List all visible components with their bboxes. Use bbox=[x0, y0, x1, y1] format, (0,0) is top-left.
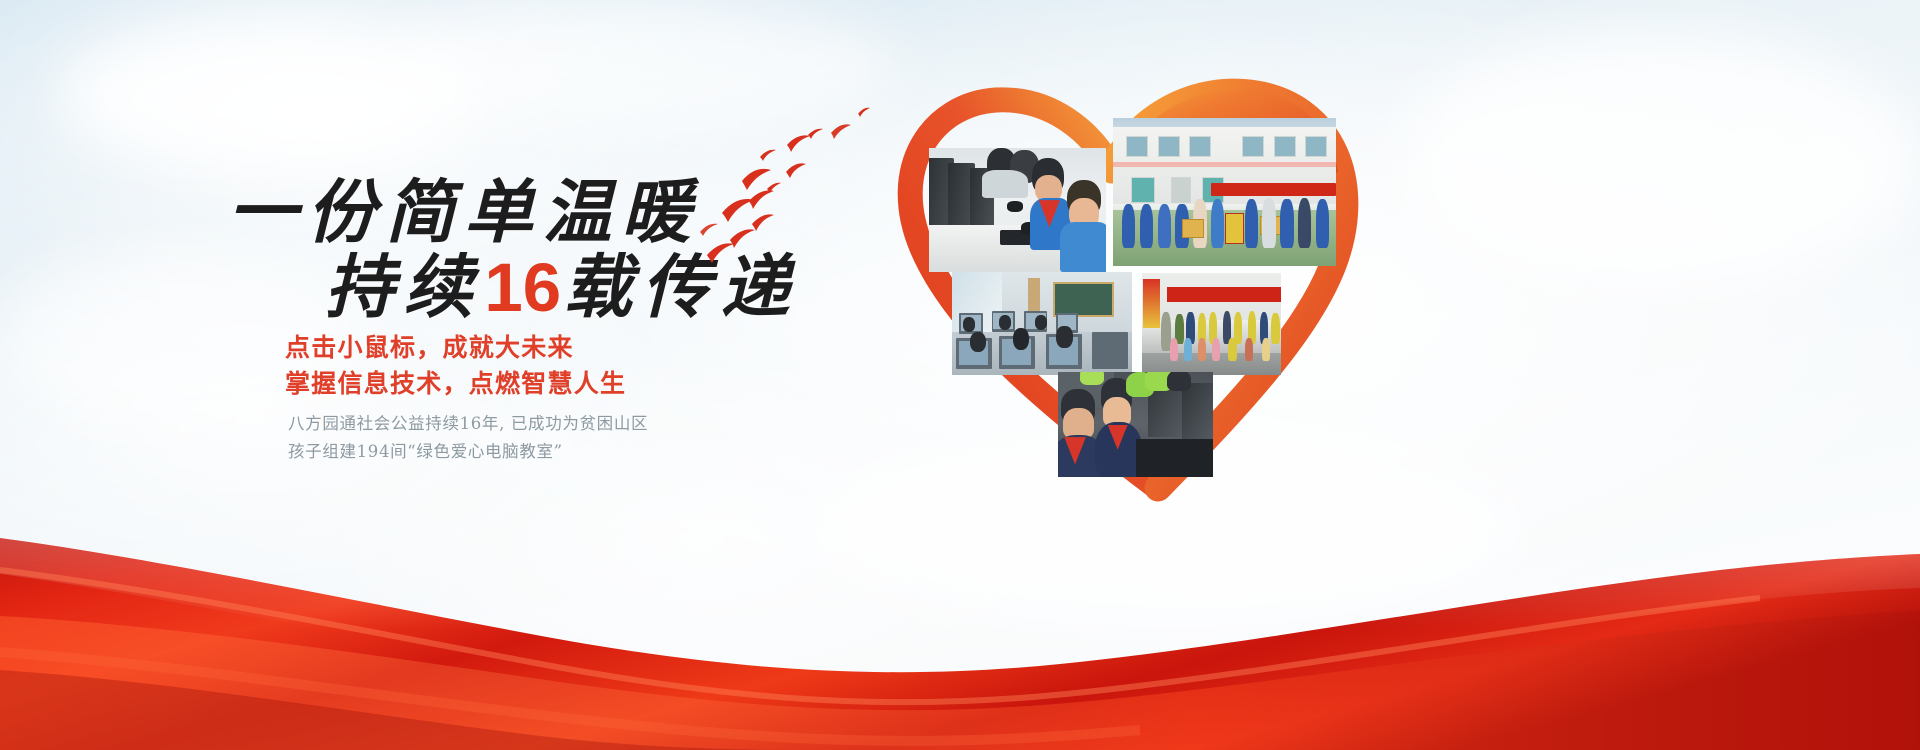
photo-classroom-monitors bbox=[952, 272, 1132, 375]
photo-computer-lab-students bbox=[929, 148, 1106, 272]
headline-year-count: 16 bbox=[482, 249, 563, 326]
photo-indoor-award-ceremony bbox=[1142, 273, 1281, 375]
subtitle-line-1: 点击小鼠标，成就大未来 bbox=[285, 328, 574, 364]
cloud-decor bbox=[1400, 30, 1920, 290]
red-silk-ribbon-icon bbox=[0, 420, 1920, 750]
headline-line-2-prefix: 持续 bbox=[325, 247, 482, 328]
photo-school-donation-ceremony bbox=[1113, 118, 1336, 266]
subtitle-line-2: 掌握信息技术，点燃智慧人生 bbox=[285, 364, 626, 400]
promo-banner: 一份简单温暖 持续16载传递 点击小鼠标，成就大未来 掌握信息技术，点燃智慧人生… bbox=[0, 0, 1920, 750]
